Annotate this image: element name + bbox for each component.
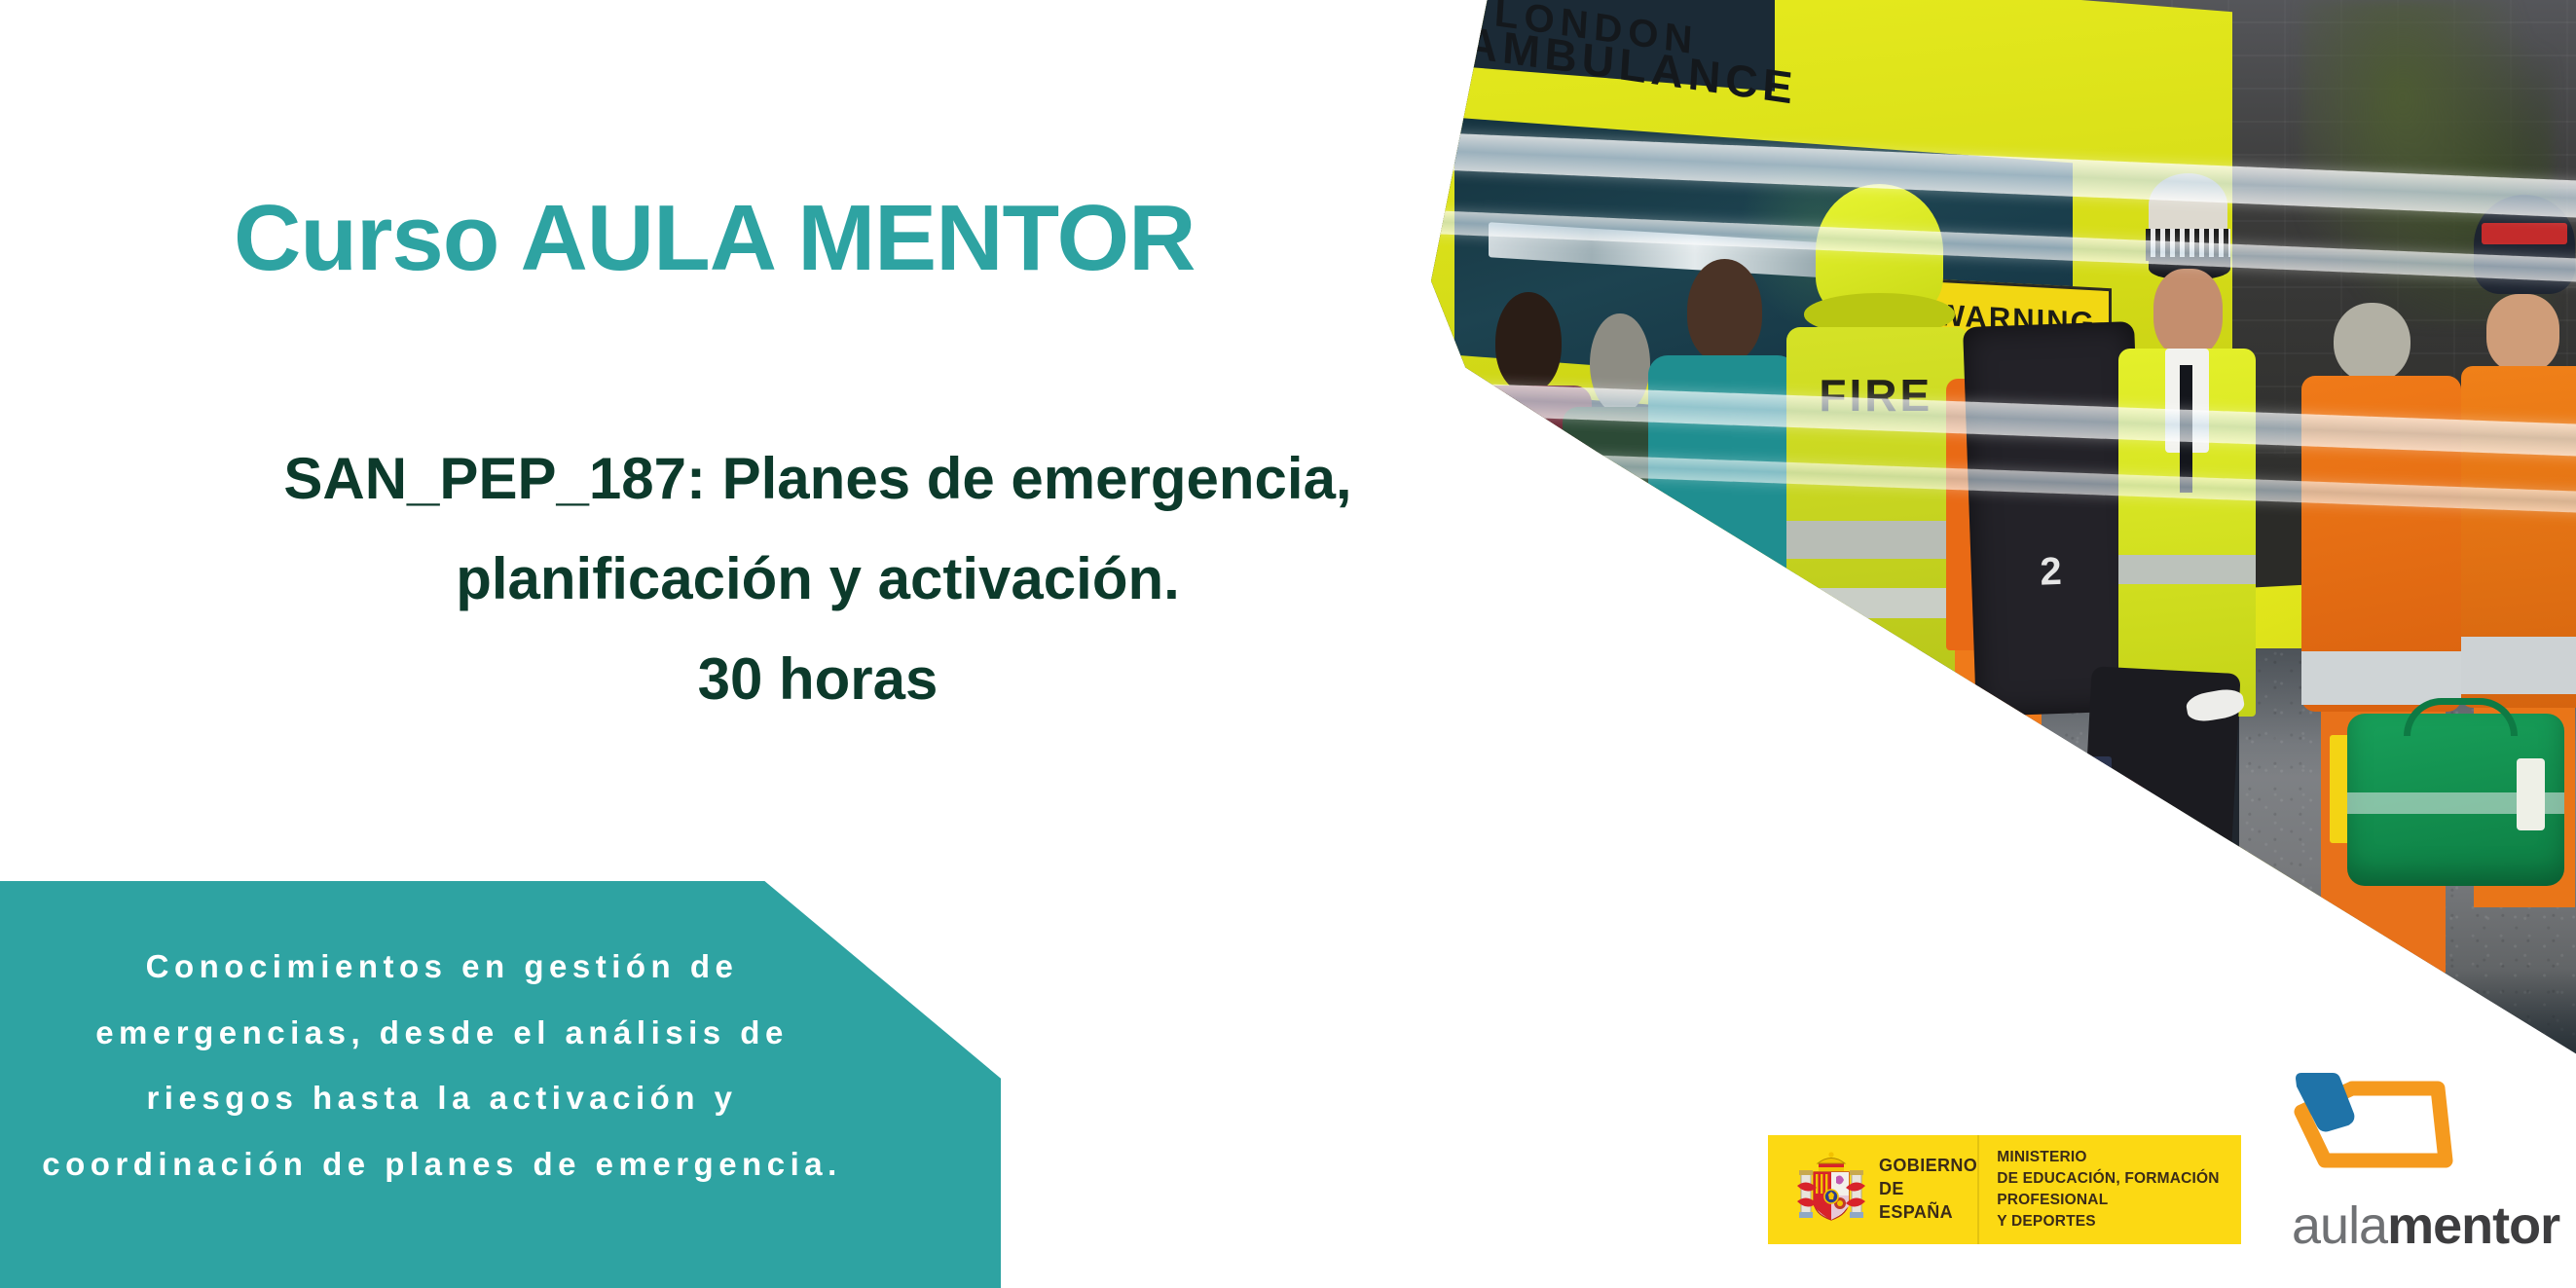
gov-logo-text: GOBIERNO DE ESPAÑA [1879, 1155, 1977, 1224]
aulamentor-logo: aulamentor [2290, 1071, 2553, 1266]
bag-number-2: 2 [2039, 550, 2062, 595]
gov-line-1: GOBIERNO [1879, 1155, 1977, 1178]
aulamentor-wordmark: aulamentor [2292, 1196, 2559, 1256]
spain-coat-of-arms-icon [1795, 1151, 1867, 1229]
aulamentor-word-mentor: mentor [2387, 1196, 2559, 1255]
photo-stage: LONDON AMBULANCE AMB NCE WARNING [1431, 0, 2576, 1081]
kicker-heading: Curso AULA MENTOR [234, 185, 1195, 292]
ministry-text: MINISTERIO DE EDUCACIÓN, FORMACIÓN PROFE… [1997, 1147, 2241, 1233]
government-logo: GOBIERNO DE ESPAÑA MINISTERIO DE EDUCACI… [1768, 1135, 2241, 1244]
firefighter-yellow-helmet: FIRE [1786, 184, 1969, 1027]
poster-canvas: LONDON AMBULANCE AMB NCE WARNING [0, 0, 2576, 1288]
ministry-line-2: DE EDUCACIÓN, FORMACIÓN PROFESIONAL [1997, 1168, 2241, 1211]
course-title-line-3: 30 horas [117, 629, 1519, 729]
callout-box: Conocimientos en gestión de emergencias,… [0, 881, 1001, 1288]
ministry-line-1: MINISTERIO [1997, 1147, 2241, 1168]
bystander-teal-shirt [1648, 259, 1797, 994]
gov-logo-left: GOBIERNO DE ESPAÑA [1768, 1135, 1979, 1244]
road-drain [1591, 824, 1786, 855]
aulamentor-mark-icon [2290, 1071, 2504, 1186]
small-tool [2073, 756, 2112, 774]
road-dark-band [1431, 969, 2576, 1081]
course-title: SAN_PEP_187: Planes de emergencia, plani… [117, 428, 1519, 730]
red-cloth [2041, 775, 2161, 1041]
emergency-scene-photo: LONDON AMBULANCE AMB NCE WARNING [1431, 0, 2576, 1081]
course-title-line-2: planificación y activación. [117, 529, 1519, 629]
green-medical-bag [2347, 714, 2564, 887]
bag-number-1: 1 [2145, 812, 2166, 854]
road-marking [1683, 681, 1821, 701]
course-title-line-1: SAN_PEP_187: Planes de emergencia, [117, 428, 1519, 529]
gov-line-2: DE ESPAÑA [1879, 1178, 1977, 1225]
ministry-line-3: Y DEPORTES [1997, 1211, 2241, 1233]
aulamentor-word-aula: aula [2292, 1196, 2387, 1255]
police-officer [2118, 173, 2256, 973]
callout-text: Conocimientos en gestión de emergencias,… [14, 934, 870, 1197]
